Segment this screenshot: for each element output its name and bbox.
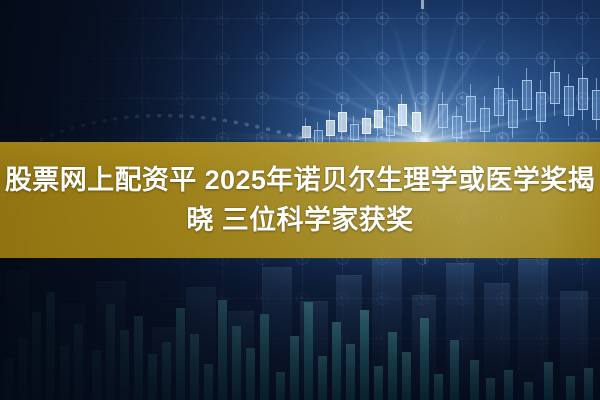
volume-bar [152,327,180,400]
grid-node-icon [336,372,349,385]
cyan-bar [276,372,285,400]
cyan-bar [402,352,411,400]
cyan-bar [74,324,83,400]
cyan-bar [46,292,55,400]
grid-node-icon [496,372,509,385]
cyan-bar [18,338,27,400]
grid-node-icon [96,92,109,105]
headline-block: 股票网上配资平 2025年诺贝尔生理学或医学奖揭 晓 三位科学家获奖 [0,142,600,258]
grid-node-icon [456,372,469,385]
cyan-bar [374,366,383,400]
cyan-bar [190,334,199,400]
volume-bar [6,271,30,400]
cyan-bar [544,362,553,400]
cyan-bar [434,374,443,400]
cyan-bar [290,336,299,400]
cyan-bar [4,358,13,400]
cyan-bar [584,368,593,400]
grid-node-icon [376,332,389,345]
grid-node-icon [296,372,309,385]
cyan-bar [106,304,115,400]
cyan-bar [318,356,327,400]
cyan-bar [504,370,513,400]
cyan-bar [260,314,269,400]
volume-bar [96,281,126,400]
volume-bar [60,303,86,400]
grid-node-icon [536,332,549,345]
cyan-bar [360,310,369,400]
cyan-bar [176,308,185,400]
cyan-bar [134,316,143,400]
grid-node-icon [536,372,549,385]
cyan-bar [232,326,241,400]
grid-node-icon [456,332,469,345]
cyan-bar [120,330,129,400]
cyan-bar [60,346,69,400]
grid-node-icon [576,332,589,345]
cyan-bar [486,378,495,400]
headline-line-2: 晓 三位科学家获奖 [186,201,413,239]
cyan-bar [92,350,101,400]
cyan-bar [332,322,341,400]
cyan-bar [32,312,41,400]
grid-node-icon [216,332,229,345]
cyan-bar [450,340,459,400]
cyan-bar [346,344,355,400]
grid-node-icon [336,332,349,345]
grid-node-icon [496,332,509,345]
grid-node-icon [296,332,309,345]
grid-node-icon [376,372,389,385]
cyan-bar [148,354,157,400]
news-banner: 股票网上配资平 2025年诺贝尔生理学或医学奖揭 晓 三位科学家获奖 [0,0,600,400]
grid-node-icon [256,332,269,345]
cyan-bar [524,382,533,400]
cyan-bar [162,342,171,400]
cyan-bar [204,364,213,400]
headline-line-1: 股票网上配资平 2025年诺贝尔生理学或医学奖揭 [5,161,595,199]
cyan-bar [566,376,575,400]
cyan-bar [470,360,479,400]
cyan-bar [246,348,255,400]
volume-bar [228,311,254,400]
cyan-bar [388,332,397,400]
